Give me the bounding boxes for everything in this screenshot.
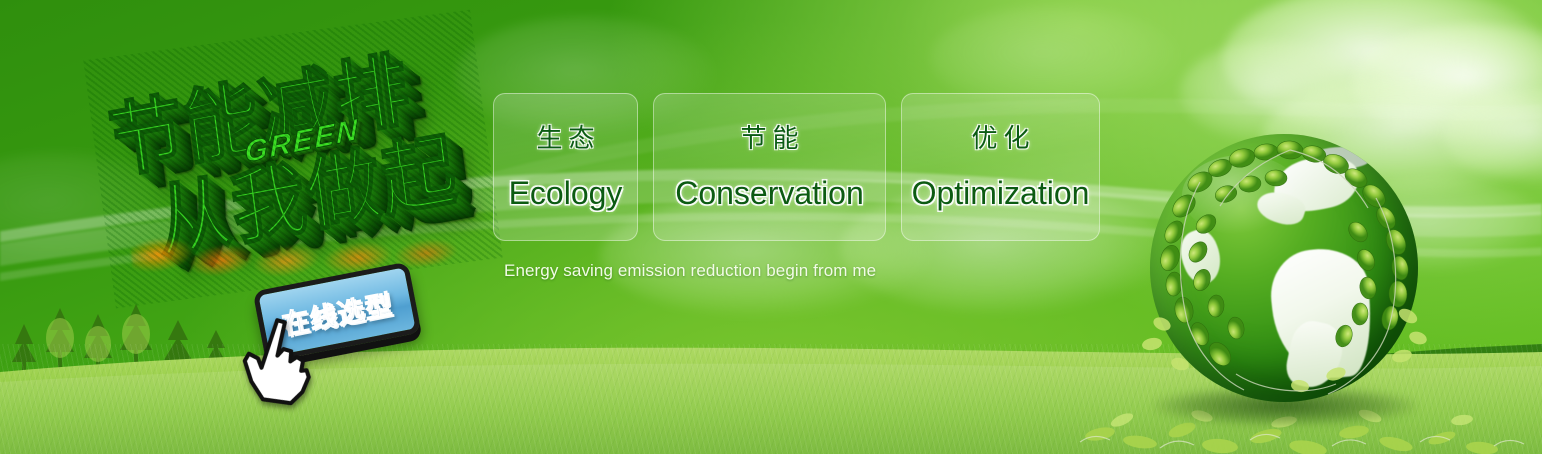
globe-leaf-canopy bbox=[1140, 128, 1428, 420]
banner-tagline: Energy saving emission reduction begin f… bbox=[504, 261, 876, 281]
hero-banner: 节能减排 从我做起 GREEN 在线选型 生态 Ecology 节能 Conse… bbox=[0, 0, 1542, 454]
feature-card-optimization[interactable]: 优化 Optimization bbox=[901, 93, 1100, 241]
feature-card-title-en: Optimization bbox=[912, 175, 1090, 212]
headline-3d-graphic: 节能减排 从我做起 GREEN bbox=[83, 10, 502, 309]
feature-card-title-cn: 节能 bbox=[734, 118, 804, 155]
feature-card-title-cn: 优化 bbox=[965, 118, 1035, 155]
feature-card-title-en: Conservation bbox=[675, 175, 864, 212]
feature-card-ecology[interactable]: 生态 Ecology bbox=[493, 93, 638, 241]
feature-card-title-cn: 生态 bbox=[530, 118, 600, 155]
feature-card-conservation[interactable]: 节能 Conservation bbox=[653, 93, 886, 241]
feature-card-title-en: Ecology bbox=[509, 175, 623, 212]
feature-card-list: 生态 Ecology 节能 Conservation 优化 Optimizati… bbox=[493, 93, 1100, 241]
leafy-earth-globe bbox=[1140, 128, 1428, 420]
